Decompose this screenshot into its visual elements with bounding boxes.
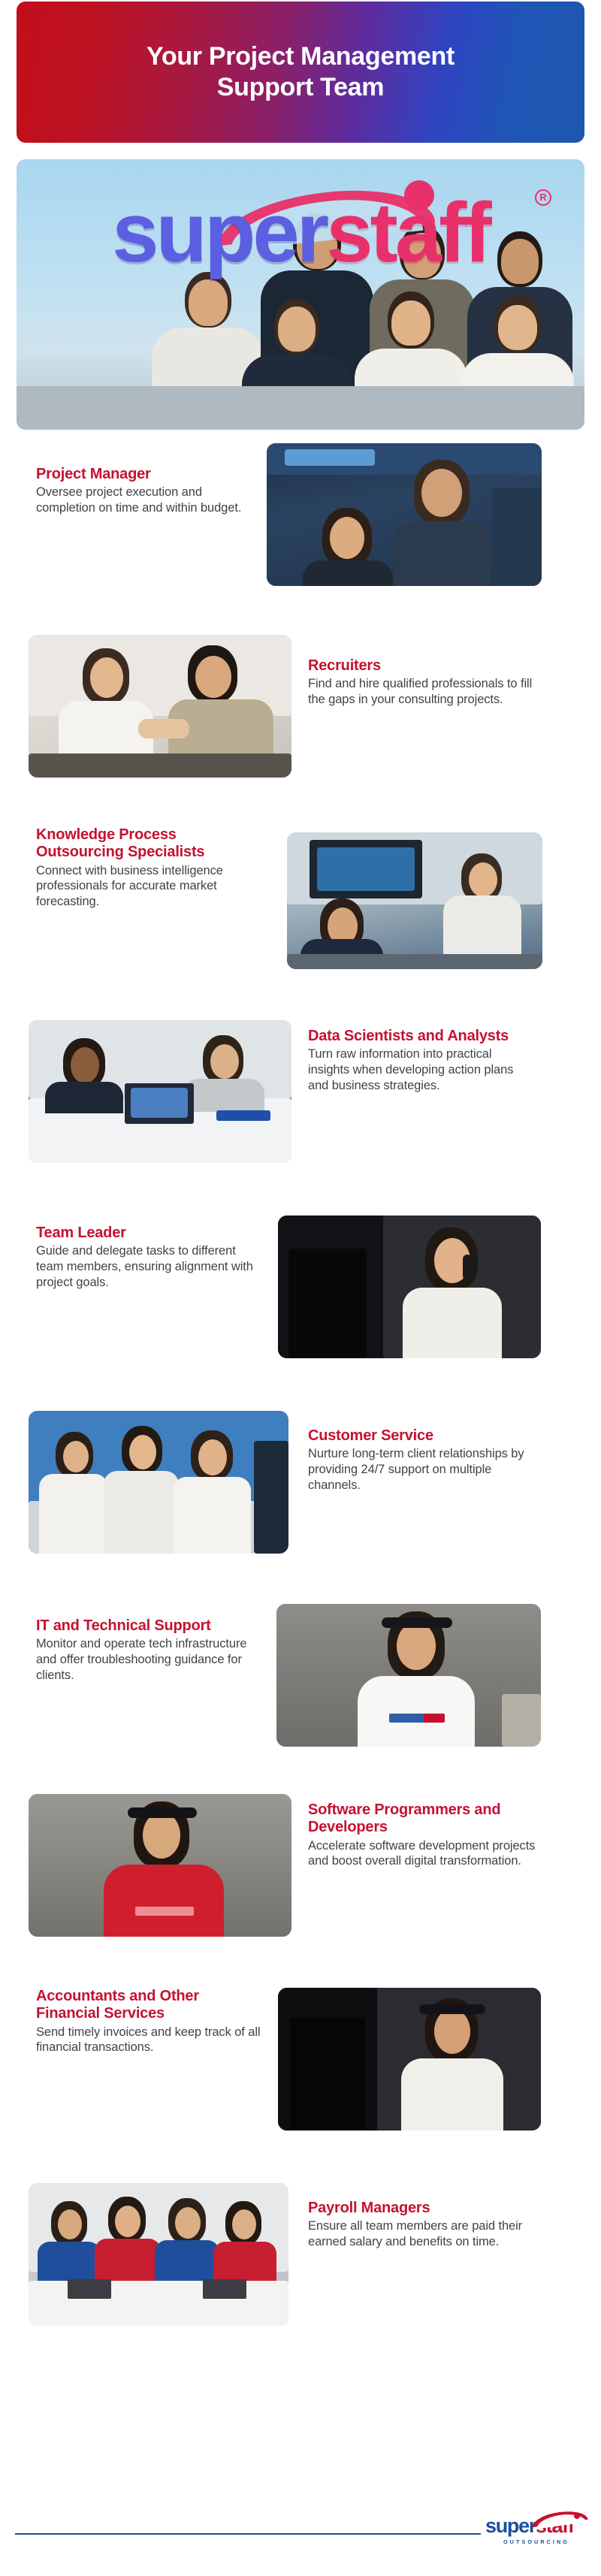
- role-copy: Data Scientists and Analysts Turn raw in…: [308, 1028, 533, 1093]
- role-title: Software Programmers and Developers: [308, 1801, 556, 1837]
- role-row-project-manager: Project Manager Oversee project executio…: [0, 443, 601, 586]
- role-title: Knowledge Process Outsourcing Specialist…: [36, 826, 261, 862]
- role-photo: [278, 1216, 541, 1358]
- role-copy: IT and Technical Support Monitor and ope…: [36, 1617, 261, 1683]
- role-row-kpo-specialists: Knowledge Process Outsourcing Specialist…: [0, 826, 601, 969]
- role-description: Accelerate software development projects…: [308, 1838, 556, 1869]
- role-row-payroll-managers: Payroll Managers Ensure all team members…: [0, 2183, 601, 2326]
- role-copy: Recruiters Find and hire qualified profe…: [308, 657, 533, 708]
- footer-brand-logo[interactable]: superstaff OUTSOURCING: [485, 2516, 587, 2552]
- role-copy: Payroll Managers Ensure all team members…: [308, 2200, 541, 2250]
- role-description: Send timely invoices and keep track of a…: [36, 2025, 261, 2055]
- role-row-data-scientists: Data Scientists and Analysts Turn raw in…: [0, 1020, 601, 1163]
- role-title: Payroll Managers: [308, 2200, 541, 2217]
- role-description: Turn raw information into practical insi…: [308, 1046, 533, 1093]
- role-description: Monitor and operate tech infrastructure …: [36, 1636, 261, 1683]
- role-photo: [29, 1411, 288, 1554]
- role-title: IT and Technical Support: [36, 1617, 261, 1635]
- registered-trademark-icon: R: [535, 189, 551, 206]
- infographic-page: Your Project Management Support Team: [0, 0, 601, 2576]
- footer-divider: [15, 2533, 481, 2535]
- role-description: Nurture long-term client relationships b…: [308, 1446, 541, 1493]
- hero-team-photo: superstaff R: [17, 159, 584, 430]
- role-row-software-programmers: Software Programmers and Developers Acce…: [0, 1794, 601, 1937]
- role-title: Recruiters: [308, 657, 533, 675]
- page-title: Your Project Management Support Team: [98, 41, 503, 104]
- role-description: Connect with business intelligence profe…: [36, 863, 261, 910]
- role-description: Find and hire qualified professionals to…: [308, 676, 533, 707]
- footer-logo-tagline: OUTSOURCING: [485, 2538, 587, 2545]
- role-title: Customer Service: [308, 1427, 541, 1445]
- role-row-customer-service: Customer Service Nurture long-term clien…: [0, 1411, 601, 1554]
- role-photo: [276, 1604, 541, 1747]
- role-row-recruiters: Recruiters Find and hire qualified profe…: [0, 635, 601, 778]
- role-photo: [29, 1020, 291, 1163]
- role-row-accountants: Accountants and Other Financial Services…: [0, 1988, 601, 2131]
- role-photo: [267, 443, 542, 586]
- role-copy: Software Programmers and Developers Acce…: [308, 1801, 556, 1869]
- role-photo: [278, 1988, 541, 2131]
- role-photo: [29, 635, 291, 778]
- role-description: Oversee project execution and completion…: [36, 485, 254, 515]
- hero-brand-logo: superstaff: [17, 191, 584, 275]
- role-description: Guide and delegate tasks to different te…: [36, 1243, 254, 1290]
- role-row-team-leader: Team Leader Guide and delegate tasks to …: [0, 1216, 601, 1358]
- role-copy: Project Manager Oversee project executio…: [36, 466, 254, 516]
- header-banner: Your Project Management Support Team: [17, 2, 584, 143]
- role-photo: [287, 832, 542, 969]
- role-copy: Knowledge Process Outsourcing Specialist…: [36, 826, 261, 910]
- role-photo: [29, 2183, 288, 2326]
- footer: superstaff OUTSOURCING: [0, 2507, 601, 2576]
- hero-logo-super: super: [112, 186, 326, 279]
- role-row-it-technical-support: IT and Technical Support Monitor and ope…: [0, 1604, 601, 1747]
- role-title: Accountants and Other Financial Services: [36, 1988, 261, 2023]
- role-copy: Accountants and Other Financial Services…: [36, 1988, 261, 2055]
- footer-logo-super: super: [485, 2514, 536, 2537]
- hero-logo-staff: staff: [326, 186, 488, 279]
- role-title: Project Manager: [36, 466, 254, 483]
- role-copy: Team Leader Guide and delegate tasks to …: [36, 1225, 254, 1290]
- brand-dot-icon: [574, 2513, 580, 2519]
- role-description: Ensure all team members are paid their e…: [308, 2218, 541, 2249]
- role-title: Team Leader: [36, 1225, 254, 1242]
- role-title: Data Scientists and Analysts: [308, 1028, 533, 1045]
- hero-floor: [17, 386, 584, 430]
- role-copy: Customer Service Nurture long-term clien…: [308, 1427, 541, 1493]
- role-photo: [29, 1794, 291, 1937]
